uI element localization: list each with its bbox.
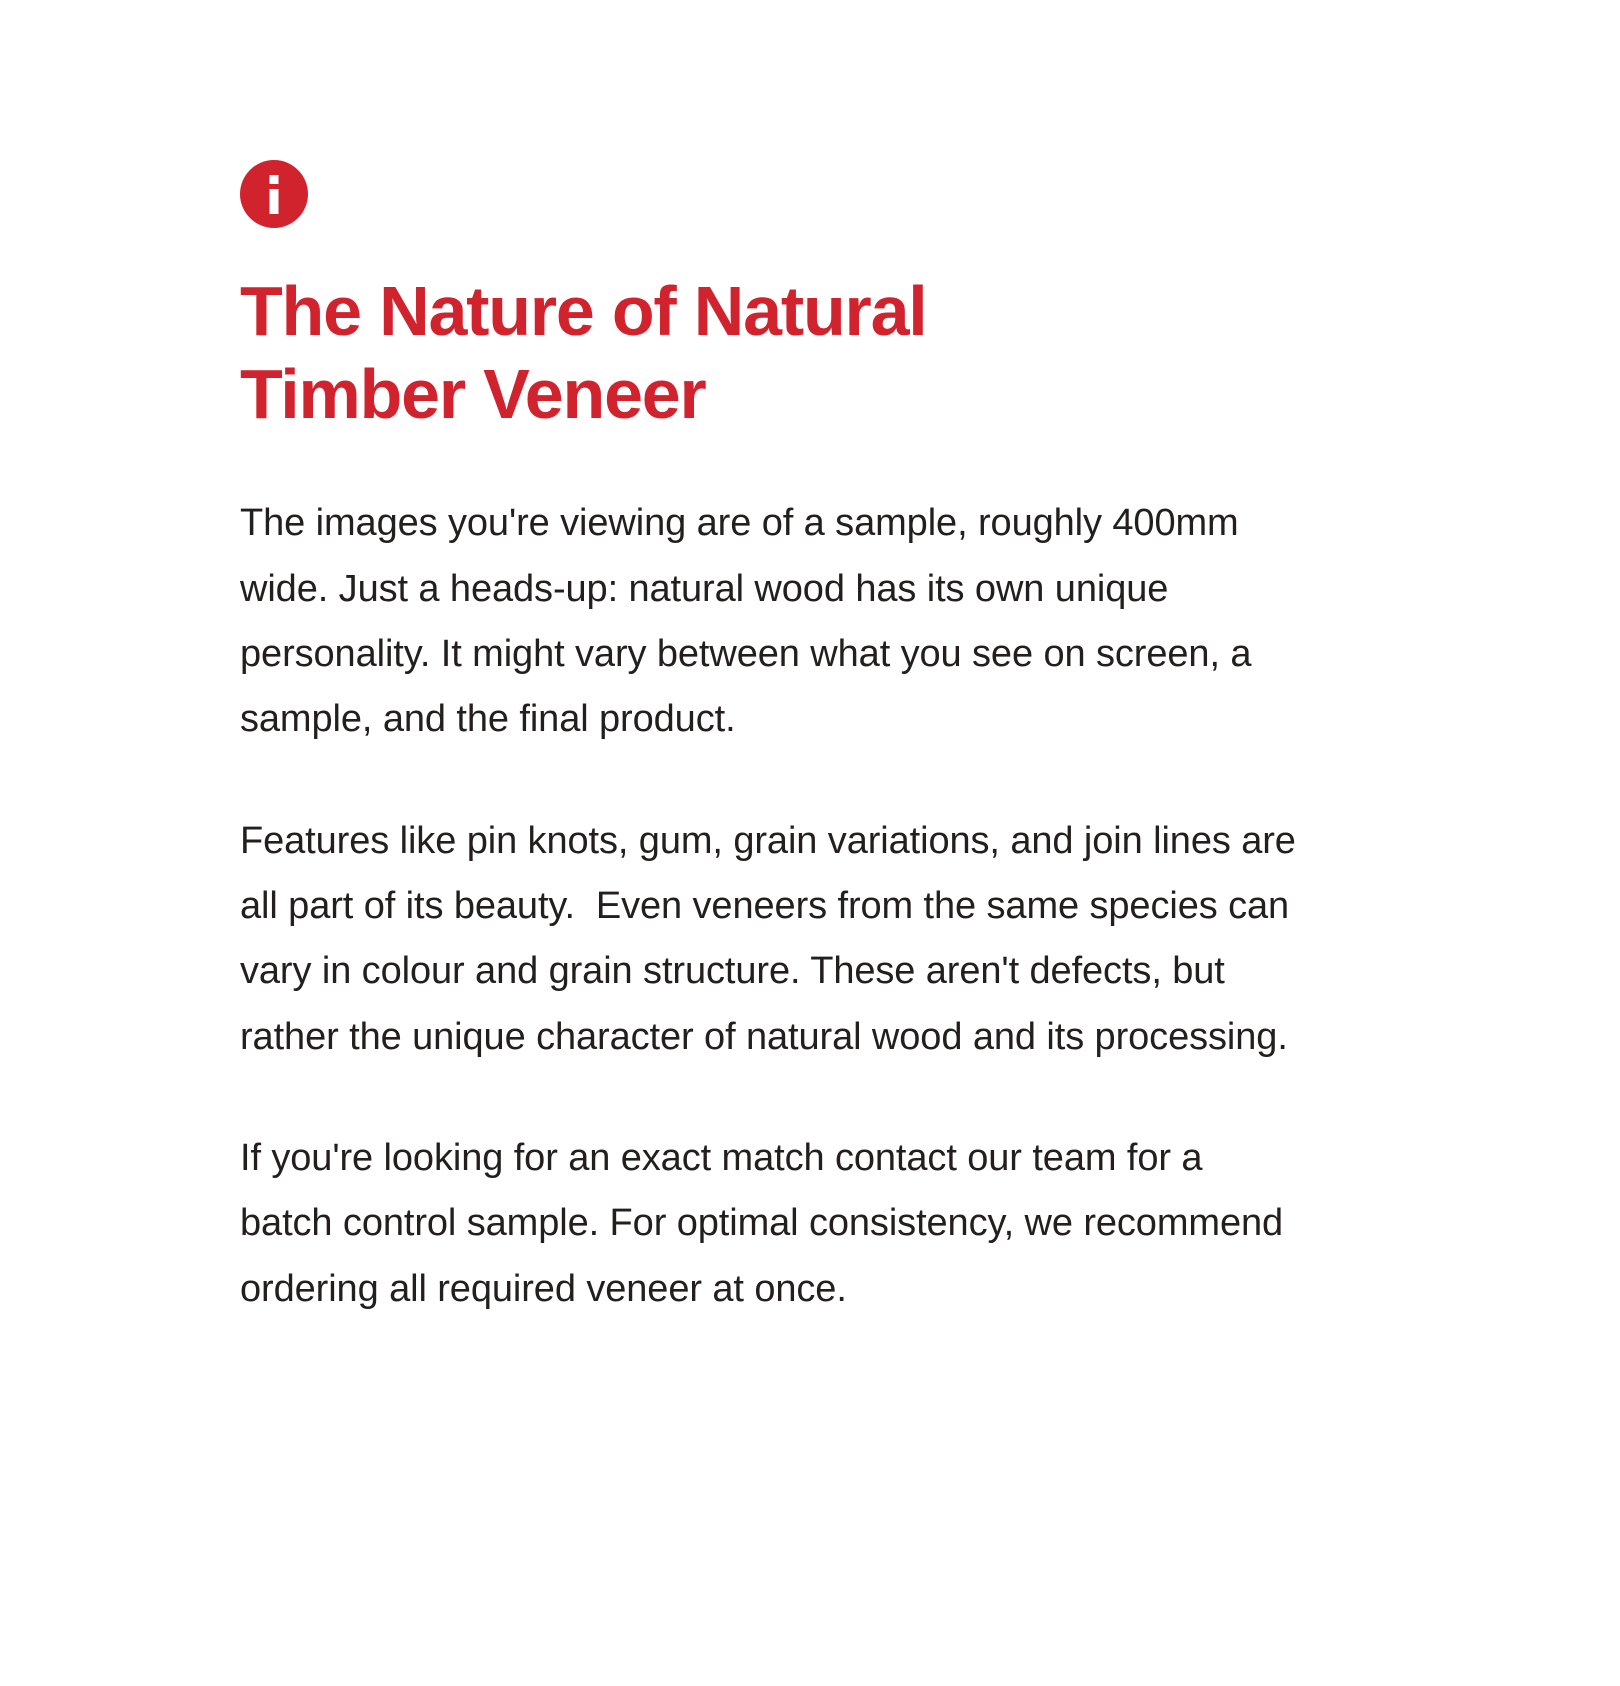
page-title: The Nature of Natural Timber Veneer	[240, 270, 1000, 435]
timber-veneer-info-card: The Nature of Natural Timber Veneer The …	[240, 160, 1300, 1322]
body-paragraph-1: The images you're viewing are of a sampl…	[240, 491, 1300, 752]
info-icon-dot	[270, 175, 279, 184]
info-icon	[240, 160, 308, 228]
body-paragraph-3: If you're looking for an exact match con…	[240, 1126, 1300, 1322]
card-body-text: The images you're viewing are of a sampl…	[240, 491, 1300, 1322]
info-icon-stem	[270, 189, 279, 214]
body-paragraph-2: Features like pin knots, gum, grain vari…	[240, 809, 1300, 1070]
